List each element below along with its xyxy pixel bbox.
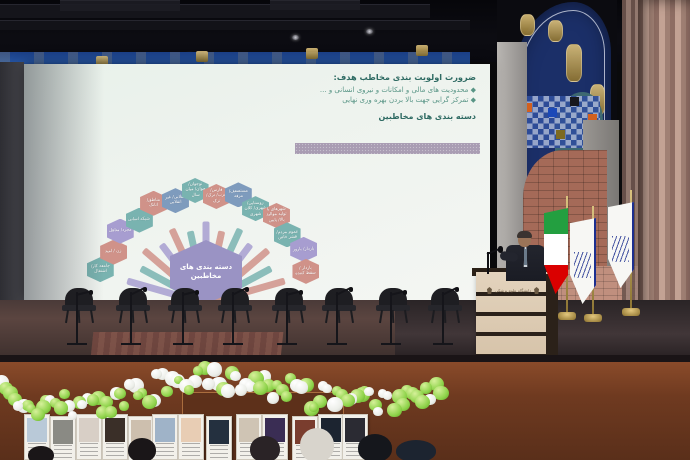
ceiling-truss — [0, 20, 470, 30]
band-medallion — [196, 51, 208, 62]
podium-logo-text: دانشگاه علوم پزشکی — [495, 288, 531, 293]
flag-base — [622, 308, 640, 316]
audience-head — [396, 440, 436, 460]
crest-icon — [487, 287, 492, 294]
ceiling-spotlight — [292, 35, 299, 40]
display-poster — [178, 414, 204, 460]
balloon-green — [161, 386, 173, 398]
audience-head — [250, 436, 280, 460]
poster-caption — [182, 443, 200, 456]
slide-heading: ضرورت اولویت بندی مخاطب هدف: — [266, 72, 476, 82]
poster-caption — [54, 445, 72, 458]
flag-base — [558, 312, 576, 320]
display-poster — [76, 414, 102, 460]
display-poster — [152, 414, 178, 460]
microphone-head — [403, 290, 407, 295]
diagram-node-label: باردار/ بارور — [293, 246, 314, 252]
slide-bullet: ◆ محدودیت های مالی و امکانات و نیروی انس… — [266, 85, 476, 95]
microphone-base — [121, 343, 141, 345]
band-medallion — [416, 45, 428, 56]
band-medallion — [306, 48, 318, 59]
diagram-node-label: شهرهای با تولید موالید بالا/ پایین — [265, 207, 289, 224]
balloon-white — [235, 384, 248, 396]
balloon-green — [105, 406, 117, 417]
balloon-white — [267, 392, 279, 404]
slide-subheading: دسته بندی های مخاطبین — [266, 112, 476, 121]
diagram-node: باردار / سقط کننده — [292, 259, 319, 284]
microphone-head — [143, 287, 147, 292]
speaker-figure — [500, 232, 548, 280]
balloon-white — [373, 407, 383, 416]
balloon-green — [133, 391, 143, 401]
poster-image — [181, 418, 201, 442]
microphone-base — [433, 343, 453, 345]
balloon-white — [230, 371, 241, 381]
balloon-white — [322, 384, 332, 393]
balloon-white — [202, 378, 214, 390]
microphone-stand — [390, 292, 392, 344]
poster-caption — [156, 443, 174, 456]
microphone-base — [223, 343, 243, 345]
microphone-stand — [442, 292, 444, 344]
microphone-stand — [182, 292, 184, 344]
microphone-base — [381, 343, 401, 345]
balloon-white — [327, 397, 343, 412]
microphone-stand — [232, 292, 234, 344]
diagram-node-label: مجرد/ متاهل — [109, 228, 132, 234]
ceiling-truss — [270, 0, 360, 10]
balloon-green — [119, 401, 129, 410]
balloon-green — [253, 381, 268, 395]
balloon-green — [193, 366, 203, 376]
diagram-node-label: عموم مردم/ قشر خاص — [275, 229, 298, 241]
audience-head — [300, 428, 334, 460]
poster-image — [105, 418, 125, 442]
slide-bullet: ◆ تمرکز گرایی جهت بالا بردن بهره وری نها… — [266, 95, 476, 105]
poster-image — [27, 418, 47, 442]
flag-base — [584, 314, 602, 322]
poster-caption — [106, 443, 124, 456]
balloon-green — [184, 385, 194, 395]
poster-image — [79, 418, 99, 442]
balloon-green — [54, 401, 68, 414]
arch-medallion-icon — [520, 14, 535, 36]
diagram-node-label: جامعه کار/ اشتغال — [89, 264, 112, 276]
microphone-stand — [76, 292, 78, 344]
ceiling-truss — [60, 0, 180, 11]
microphone-head — [299, 290, 303, 295]
microphone-base — [327, 343, 347, 345]
microphone-head — [349, 287, 353, 292]
display-poster — [206, 416, 232, 460]
poster-image — [209, 420, 229, 444]
microphone-head — [455, 287, 459, 292]
crest-icon — [534, 287, 539, 294]
podium-emblem: دانشگاه علوم پزشکی — [484, 286, 542, 295]
diagram-node-label: باردار / سقط کننده — [294, 266, 317, 278]
speaker-hair — [517, 231, 532, 238]
arch-medallion-icon — [548, 20, 563, 42]
microphone-head — [245, 287, 249, 292]
balloon-green — [309, 403, 318, 412]
audience-head — [128, 438, 156, 460]
microphone-head — [195, 290, 199, 295]
balloon-white — [364, 387, 374, 396]
arch-medallion-icon — [566, 44, 582, 82]
microphone-base — [67, 343, 87, 345]
display-poster — [102, 414, 128, 460]
tile-accent — [548, 108, 557, 117]
balloon-green — [433, 386, 449, 401]
balloon-green — [142, 395, 157, 409]
balloon-green — [415, 395, 430, 409]
projection-screen: ضرورت اولویت بندی مخاطب هدف: ◆ محدودیت ه… — [24, 64, 490, 300]
slide-text-block: ضرورت اولویت بندی مخاطب هدف: ◆ محدودیت ه… — [266, 72, 476, 121]
balloon-green — [341, 394, 355, 407]
speaker-tie — [524, 249, 527, 265]
microphone-base — [173, 343, 193, 345]
speaker-arm — [499, 251, 518, 262]
balloon-white — [383, 391, 393, 400]
poster-caption — [210, 445, 228, 458]
balloon-green — [59, 389, 70, 399]
audience-head — [28, 446, 54, 460]
diagram-node-label: زن / امید — [105, 249, 122, 255]
slide-accent-bar — [295, 143, 480, 154]
balloon-green — [387, 403, 401, 417]
poster-image — [53, 420, 73, 444]
poster-caption — [80, 443, 98, 456]
balloon-green — [31, 408, 45, 421]
ceiling-spotlight — [366, 29, 373, 34]
tile-accent — [556, 130, 565, 139]
microphone-stand — [286, 292, 288, 344]
microphone-base — [277, 343, 297, 345]
balloon-white — [221, 384, 235, 398]
balloon-white — [295, 381, 309, 394]
tile-accent — [570, 97, 579, 106]
diagram-node-label: مستضعف/ مرفه — [227, 189, 250, 201]
diagram-node-label: مناطق/ اتانک — [142, 198, 165, 210]
screenshot-root: ضرورت اولویت بندی مخاطب هدف: ◆ محدودیت ه… — [0, 0, 690, 460]
diagram-node-label: شبکه اسانی — [128, 217, 150, 223]
balloon-green — [87, 394, 100, 406]
audience-head — [358, 434, 392, 460]
podium-mic-stand — [487, 252, 489, 274]
microphone-stand — [130, 292, 132, 344]
diagram-node-label: فارس/ عرب/ ترک/ ترک — [205, 188, 229, 205]
balloon-white — [207, 362, 222, 377]
balloon-green — [281, 391, 293, 402]
balloon-white — [68, 411, 77, 420]
microphone-head — [89, 290, 93, 295]
microphone-stand — [336, 292, 338, 344]
podium-mic-head — [498, 246, 503, 253]
poster-image — [155, 418, 175, 442]
